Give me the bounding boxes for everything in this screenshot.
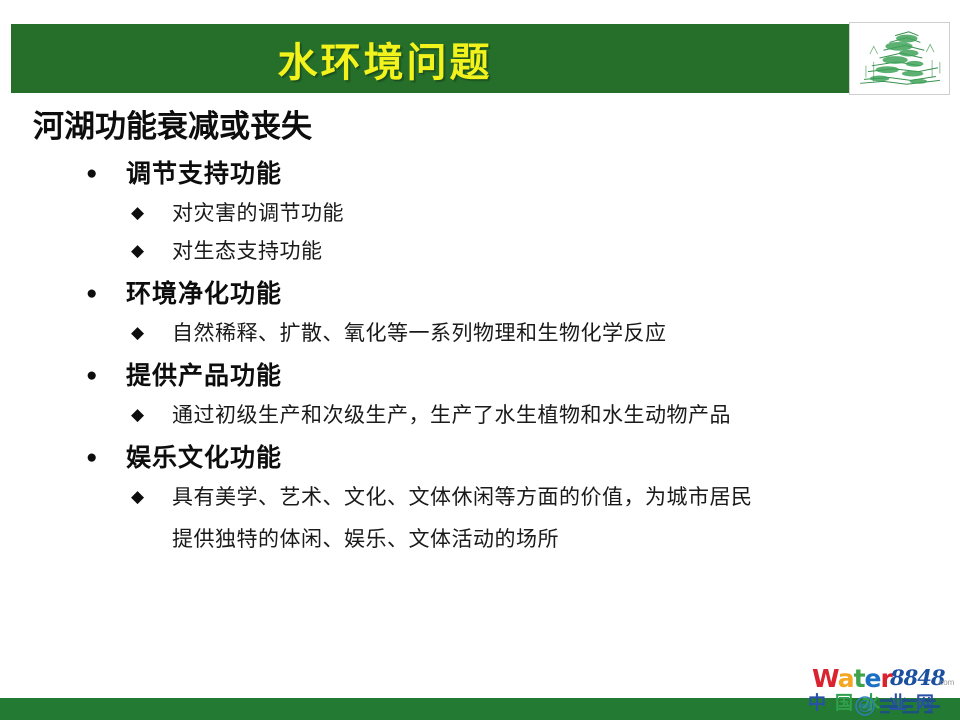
bullet-dot-icon: ● (86, 277, 126, 311)
bullet-diamond-icon: ◆ (131, 399, 172, 431)
watermark-tld: .com (937, 678, 954, 687)
bullet-detail-multiline: 具有美学、艺术、文化、文体休闲等方面的价值，为城市居民 提供独特的体闲、娱乐、文… (172, 481, 753, 555)
watermark-letter-a: a (838, 664, 854, 693)
section-heading: 河湖功能衰减或丧失 (33, 108, 960, 147)
bullet-item-level2: ◆ 对灾害的调节功能 (0, 197, 960, 229)
bullet-dot-icon: ● (86, 359, 126, 393)
bullet-diamond-icon: ◆ (131, 481, 172, 513)
watermark-letter-r: r (880, 664, 891, 693)
watermark-letter-t: t (854, 664, 865, 693)
bullet-detail: 对生态支持功能 (172, 235, 323, 267)
watermark-letter-w: W (812, 664, 838, 693)
footer-band (0, 698, 960, 720)
bullet-detail: 自然稀释、扩散、氧化等一系列物理和生物化学反应 (172, 317, 667, 349)
bullet-item-level1: ● 娱乐文化功能 (0, 441, 960, 475)
bullet-detail-line2: 提供独特的体闲、娱乐、文体活动的场所 (172, 523, 753, 555)
bullet-item-level1: ● 提供产品功能 (0, 359, 960, 393)
bullet-detail: 对灾害的调节功能 (172, 197, 344, 229)
watermark-wordmark: Water (812, 666, 892, 691)
bullet-detail: 通过初级生产和次级生产，生产了水生植物和水生动物产品 (172, 399, 731, 431)
river-landscape-sketch-icon (850, 23, 949, 94)
header-band: 水环境问题 (11, 24, 849, 93)
header-logo-image (849, 22, 950, 95)
bullet-label: 环境净化功能 (126, 277, 282, 311)
bullet-diamond-icon: ◆ (131, 317, 172, 349)
slide-content: 河湖功能衰减或丧失 ● 调节支持功能 ◆ 对灾害的调节功能 ◆ 对生态支持功能 … (0, 108, 960, 557)
bullet-diamond-icon: ◆ (131, 235, 172, 267)
bullet-diamond-icon: ◆ (131, 197, 172, 229)
bullet-label: 调节支持功能 (126, 157, 282, 191)
bullet-item-level2: ◆ 自然稀释、扩散、氧化等一系列物理和生物化学反应 (0, 317, 960, 349)
slide-root: 水环境问题 (0, 0, 960, 720)
bullet-item-level2: ◆ 具有美学、艺术、文化、文体休闲等方面的价值，为城市居民 提供独特的体闲、娱乐… (0, 481, 960, 555)
bullet-item-level2: ◆ 对生态支持功能 (0, 235, 960, 267)
bullet-item-level2: ◆ 通过初级生产和次级生产，生产了水生植物和水生动物产品 (0, 399, 960, 431)
bullet-label: 提供产品功能 (126, 359, 282, 393)
bullet-item-level1: ● 环境净化功能 (0, 277, 960, 311)
page-title: 水环境问题 (11, 24, 849, 93)
bullet-detail-line1: 具有美学、艺术、文化、文体休闲等方面的价值，为城市居民 (172, 485, 753, 509)
bullet-dot-icon: ● (86, 157, 126, 191)
bullet-label: 娱乐文化功能 (126, 441, 282, 475)
watermark-letter-e: e (865, 664, 881, 693)
watermark-number: 8848 (890, 667, 944, 689)
bullet-item-level1: ● 调节支持功能 (0, 157, 960, 191)
bullet-dot-icon: ● (86, 441, 126, 475)
